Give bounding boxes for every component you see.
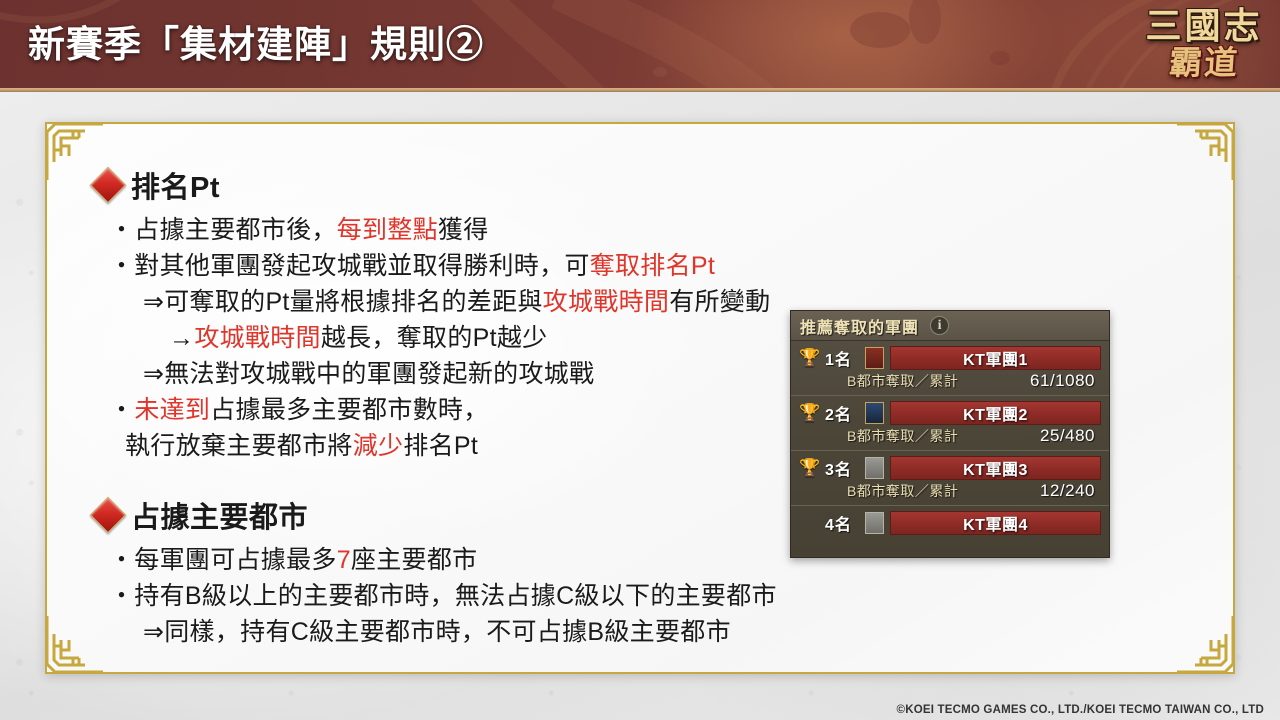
body-text: 排名Pt bbox=[403, 432, 478, 460]
body-text: → bbox=[169, 324, 194, 352]
body-text: 越長，奪取的Pt越少 bbox=[321, 324, 548, 352]
rank-label: 1名 bbox=[825, 346, 859, 370]
body-text: 占據最多主要都市數時， bbox=[210, 396, 488, 424]
rank-label: 4名 bbox=[825, 511, 859, 535]
rank-row-stats: B都市奪取／累計12/240 bbox=[799, 480, 1101, 502]
diamond-bullet-icon bbox=[90, 497, 127, 534]
legion-rank-row[interactable]: 🏆3名KT軍團3B都市奪取／累計12/240 bbox=[791, 451, 1109, 506]
legion-emblem-icon bbox=[865, 512, 884, 534]
legion-name-bar[interactable]: KT軍團3 bbox=[890, 456, 1101, 480]
legion-name-bar[interactable]: KT軍團2 bbox=[890, 401, 1101, 425]
stat-label: B都市奪取／累計 bbox=[847, 481, 958, 501]
highlighted-text: 攻城戰時間 bbox=[194, 324, 321, 352]
game-screenshot-panel: 推薦奪取的軍團 i 🏆1名KT軍團1B都市奪取／累計61/1080🏆2名KT軍團… bbox=[790, 310, 1110, 558]
rank-row-main: 🏆3名KT軍團3 bbox=[799, 455, 1101, 480]
legion-emblem-icon bbox=[865, 402, 884, 424]
slide-header: 新賽季「集材建陣」規則② 三國志 霸道 bbox=[0, 0, 1280, 92]
legion-name-bar[interactable]: KT軍團1 bbox=[890, 346, 1101, 370]
legion-rank-row[interactable]: 🏆1名KT軍團1B都市奪取／累計61/1080 bbox=[791, 341, 1109, 396]
rank-label: 3名 bbox=[825, 456, 859, 480]
section-body: ・每軍團可占據最多7座主要都市・持有B級以上的主要都市時，無法占據C級以下的主要… bbox=[95, 542, 777, 650]
bullet-line: ・對其他軍團發起攻城戰並取得勝利時，可奪取排名Pt bbox=[95, 248, 770, 284]
logo-sub-text: 霸道 bbox=[1135, 48, 1273, 81]
highlighted-text: 未達到 bbox=[134, 396, 210, 424]
stat-value: 61/1080 bbox=[1030, 371, 1095, 391]
legion-emblem-icon bbox=[865, 457, 884, 479]
game-logo: 三國志 霸道 bbox=[1136, 2, 1272, 92]
rank-row-main: 🏆1名KT軍團1 bbox=[799, 345, 1101, 370]
legion-rank-row[interactable]: 🏆2名KT軍團2B都市奪取／累計25/480 bbox=[791, 396, 1109, 451]
trophy-icon: 🏆 bbox=[799, 459, 819, 476]
bullet-line: ・每軍團可占據最多7座主要都市 bbox=[95, 542, 777, 578]
section-title: 排名Pt bbox=[131, 164, 220, 206]
legion-name-bar[interactable]: KT軍團4 bbox=[890, 511, 1101, 535]
body-text: ・占據主要都市後， bbox=[109, 216, 337, 244]
section-body: ・占據主要都市後，每到整點獲得・對其他軍團發起攻城戰並取得勝利時，可奪取排名Pt… bbox=[95, 212, 770, 464]
legion-rank-row[interactable]: 4名KT軍團4 bbox=[791, 506, 1109, 538]
rank-row-stats: B都市奪取／累計25/480 bbox=[799, 425, 1101, 447]
panel-title: 推薦奪取的軍團 bbox=[800, 314, 919, 338]
highlighted-text: 奪取排名Pt bbox=[590, 252, 715, 280]
corner-ornament-top-right bbox=[1175, 122, 1235, 182]
highlighted-text: 7 bbox=[337, 546, 351, 574]
panel-header: 推薦奪取的軍團 i bbox=[791, 311, 1109, 341]
section-ranking-pt: 排名Pt ・占據主要都市後，每到整點獲得・對其他軍團發起攻城戰並取得勝利時，可奪… bbox=[95, 164, 770, 464]
section-title: 占據主要都市 bbox=[131, 494, 308, 536]
info-icon[interactable]: i bbox=[930, 316, 949, 335]
body-text: ・ bbox=[109, 396, 134, 424]
stat-label: B都市奪取／累計 bbox=[847, 371, 958, 391]
section-occupy-main-city: 占據主要都市 ・每軍團可占據最多7座主要都市・持有B級以上的主要都市時，無法占據… bbox=[95, 494, 777, 650]
rank-label: 2名 bbox=[825, 401, 859, 425]
body-text: ・對其他軍團發起攻城戰並取得勝利時，可 bbox=[109, 252, 590, 280]
highlighted-text: 攻城戰時間 bbox=[543, 288, 670, 316]
body-text: 座主要都市 bbox=[351, 546, 478, 574]
bullet-line: ・占據主要都市後，每到整點獲得 bbox=[95, 212, 770, 248]
bullet-line: ⇒可奪取的Pt量將根據排名的差距與攻城戰時間有所變動 bbox=[95, 284, 770, 320]
body-text: ・持有B級以上的主要都市時，無法占據C級以下的主要都市 bbox=[109, 582, 777, 610]
legion-name: KT軍團4 bbox=[963, 511, 1028, 535]
body-text: ⇒無法對攻城戰中的軍團發起新的攻城戰 bbox=[143, 360, 594, 388]
trophy-icon: 🏆 bbox=[799, 404, 819, 421]
rank-row-main: 4名KT軍團4 bbox=[799, 510, 1101, 535]
section-header: 排名Pt bbox=[95, 164, 770, 206]
rank-row-main: 🏆2名KT軍團2 bbox=[799, 400, 1101, 425]
trophy-icon: 🏆 bbox=[799, 349, 819, 366]
body-text: 執行放棄主要都市將 bbox=[125, 432, 353, 460]
logo-main-text: 三國志 bbox=[1136, 8, 1272, 44]
header-divider bbox=[0, 88, 1280, 92]
stat-value: 12/240 bbox=[1040, 481, 1095, 501]
stat-value: 25/480 bbox=[1040, 426, 1095, 446]
bullet-line: ・持有B級以上的主要都市時，無法占據C級以下的主要都市 bbox=[95, 578, 777, 614]
bullet-line: 執行放棄主要都市將減少排名Pt bbox=[95, 428, 770, 464]
body-text: ⇒同樣，持有C級主要都市時，不可占據B級主要都市 bbox=[143, 618, 731, 646]
legion-name: KT軍團1 bbox=[963, 346, 1028, 370]
body-text: 有所變動 bbox=[669, 288, 770, 316]
body-text: ・每軍團可占據最多 bbox=[109, 546, 337, 574]
body-text: ⇒可奪取的Pt量將根據排名的差距與 bbox=[143, 288, 543, 316]
legion-emblem-icon bbox=[865, 347, 884, 369]
rank-row-stats: B都市奪取／累計61/1080 bbox=[799, 370, 1101, 392]
page-title: 新賽季「集材建陣」規則② bbox=[28, 14, 484, 68]
legion-name: KT軍團3 bbox=[963, 456, 1028, 480]
body-text: 獲得 bbox=[438, 216, 489, 244]
bullet-line: ⇒同樣，持有C級主要都市時，不可占據B級主要都市 bbox=[95, 614, 777, 650]
legion-name: KT軍團2 bbox=[963, 401, 1028, 425]
stat-label: B都市奪取／累計 bbox=[847, 426, 958, 446]
slide-root: 新賽季「集材建陣」規則② 三國志 霸道 bbox=[0, 0, 1280, 720]
corner-ornament-bottom-right bbox=[1175, 614, 1235, 674]
legion-ranking-list: 🏆1名KT軍團1B都市奪取／累計61/1080🏆2名KT軍團2B都市奪取／累計2… bbox=[791, 341, 1109, 538]
section-header: 占據主要都市 bbox=[95, 494, 777, 536]
bullet-line: →攻城戰時間越長，奪取的Pt越少 bbox=[95, 320, 770, 356]
bullet-line: ⇒無法對攻城戰中的軍團發起新的攻城戰 bbox=[95, 356, 770, 392]
highlighted-text: 每到整點 bbox=[337, 216, 438, 244]
highlighted-text: 減少 bbox=[353, 432, 404, 460]
bullet-line: ・未達到占據最多主要都市數時， bbox=[95, 392, 770, 428]
copyright-notice: ©KOEI TECMO GAMES CO., LTD./KOEI TECMO T… bbox=[897, 704, 1264, 716]
diamond-bullet-icon bbox=[90, 167, 127, 204]
